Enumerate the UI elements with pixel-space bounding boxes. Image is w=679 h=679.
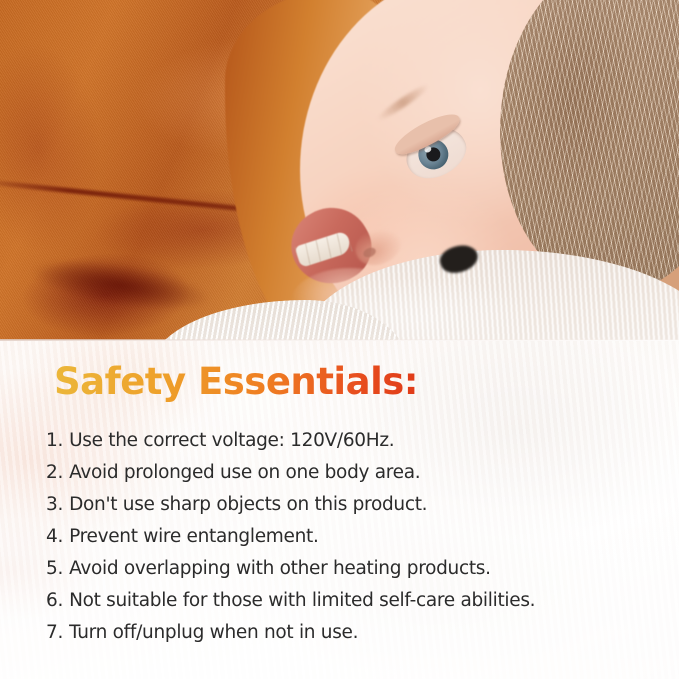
product-feature-card: Safety Essentials: 1. Use the correct vo… [0,0,679,679]
list-item: 2. Avoid prolonged use on one body area. [46,457,646,489]
list-item-number: 5. [46,553,63,585]
list-item-text: Prevent wire entanglement. [69,521,318,553]
list-item-text: Avoid prolonged use on one body area. [69,457,420,489]
page-title: Safety Essentials: [54,363,418,402]
list-item-number: 7. [46,617,63,649]
list-item-number: 1. [46,425,63,457]
list-item: 4. Prevent wire entanglement. [46,521,646,553]
list-item: 3. Don't use sharp objects on this produ… [46,489,646,521]
list-item-text: Turn off/unplug when not in use. [69,617,358,649]
fur-blanket-left [150,300,410,340]
list-item-text: Avoid overlapping with other heating pro… [69,553,491,585]
list-item-text: Don't use sharp objects on this product. [69,489,427,521]
list-item: 6. Not suitable for those with limited s… [46,585,646,617]
panel-content: Safety Essentials: 1. Use the correct vo… [0,341,679,679]
hero-photo [0,0,679,340]
list-item-number: 4. [46,521,63,553]
list-item-text: Not suitable for those with limited self… [69,585,535,617]
list-item: 7. Turn off/unplug when not in use. [46,617,646,649]
list-item-number: 6. [46,585,63,617]
list-item-number: 3. [46,489,63,521]
safety-list: 1. Use the correct voltage: 120V/60Hz. 2… [46,425,646,649]
list-item: 1. Use the correct voltage: 120V/60Hz. [46,425,646,457]
safety-info-panel: Safety Essentials: 1. Use the correct vo… [0,341,679,679]
list-item-text: Use the correct voltage: 120V/60Hz. [69,425,394,457]
list-item: 5. Avoid overlapping with other heating … [46,553,646,585]
list-item-number: 2. [46,457,63,489]
